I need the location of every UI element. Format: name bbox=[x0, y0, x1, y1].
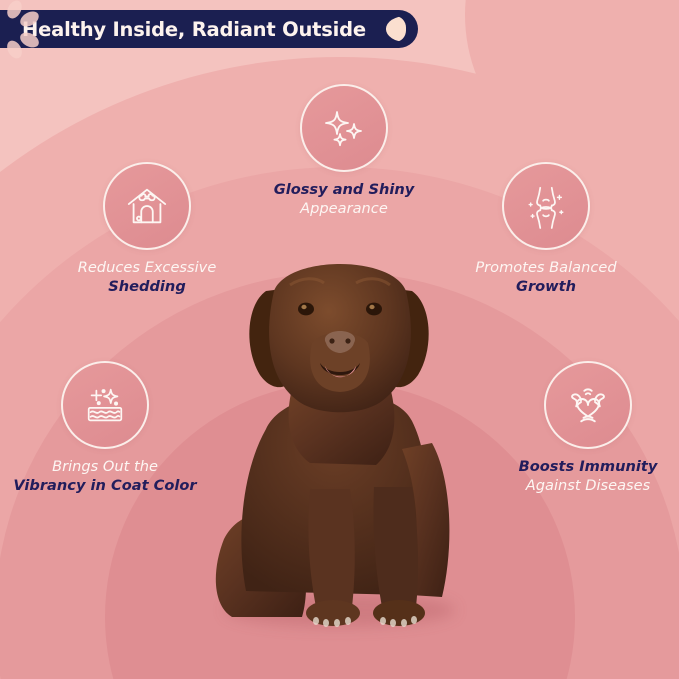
paw-toe-icon bbox=[18, 8, 42, 29]
shiny-coat-icon bbox=[61, 361, 149, 449]
feature-immunity[interactable]: Boosts Immunity Against Diseases bbox=[478, 361, 679, 495]
promo-graphic: Healthy Inside, Radiant Outside bbox=[0, 0, 679, 679]
feature-label-line1: Boosts Immunity bbox=[478, 458, 679, 477]
sparkles-icon bbox=[300, 84, 388, 172]
feature-labels: Boosts Immunity Against Diseases bbox=[478, 458, 679, 495]
dog-photo bbox=[206, 239, 474, 639]
feature-labels: Reduces Excessive Shedding bbox=[37, 259, 257, 296]
feature-growth[interactable]: Promotes Balanced Growth bbox=[436, 162, 656, 296]
feature-label-line2: Appearance bbox=[234, 200, 454, 219]
paw-print-icon bbox=[386, 16, 406, 42]
feature-vibrancy[interactable]: Brings Out the Vibrancy in Coat Color bbox=[0, 361, 215, 495]
dog-house-icon bbox=[103, 162, 191, 250]
bone-joint-icon bbox=[502, 162, 590, 250]
paw-toes-decoration bbox=[0, 0, 70, 58]
banner-title: Healthy Inside, Radiant Outside bbox=[22, 18, 366, 41]
feature-labels: Brings Out the Vibrancy in Coat Color bbox=[0, 458, 215, 495]
feature-label-line2: Shedding bbox=[37, 278, 257, 297]
feature-label-line1: Glossy and Shiny bbox=[234, 181, 454, 200]
heart-muscle-icon bbox=[544, 361, 632, 449]
feature-glossy[interactable]: Glossy and Shiny Appearance bbox=[234, 84, 454, 218]
feature-shedding[interactable]: Reduces Excessive Shedding bbox=[37, 162, 257, 296]
feature-label-line1: Promotes Balanced bbox=[436, 259, 656, 278]
feature-labels: Promotes Balanced Growth bbox=[436, 259, 656, 296]
feature-label-line2: Vibrancy in Coat Color bbox=[0, 477, 215, 496]
feature-label-line1: Reduces Excessive bbox=[37, 259, 257, 278]
feature-label-line2: Growth bbox=[436, 278, 656, 297]
header-banner: Healthy Inside, Radiant Outside bbox=[0, 10, 418, 48]
feature-label-line1: Brings Out the bbox=[0, 458, 215, 477]
feature-label-line2: Against Diseases bbox=[478, 477, 679, 496]
feature-labels: Glossy and Shiny Appearance bbox=[234, 181, 454, 218]
